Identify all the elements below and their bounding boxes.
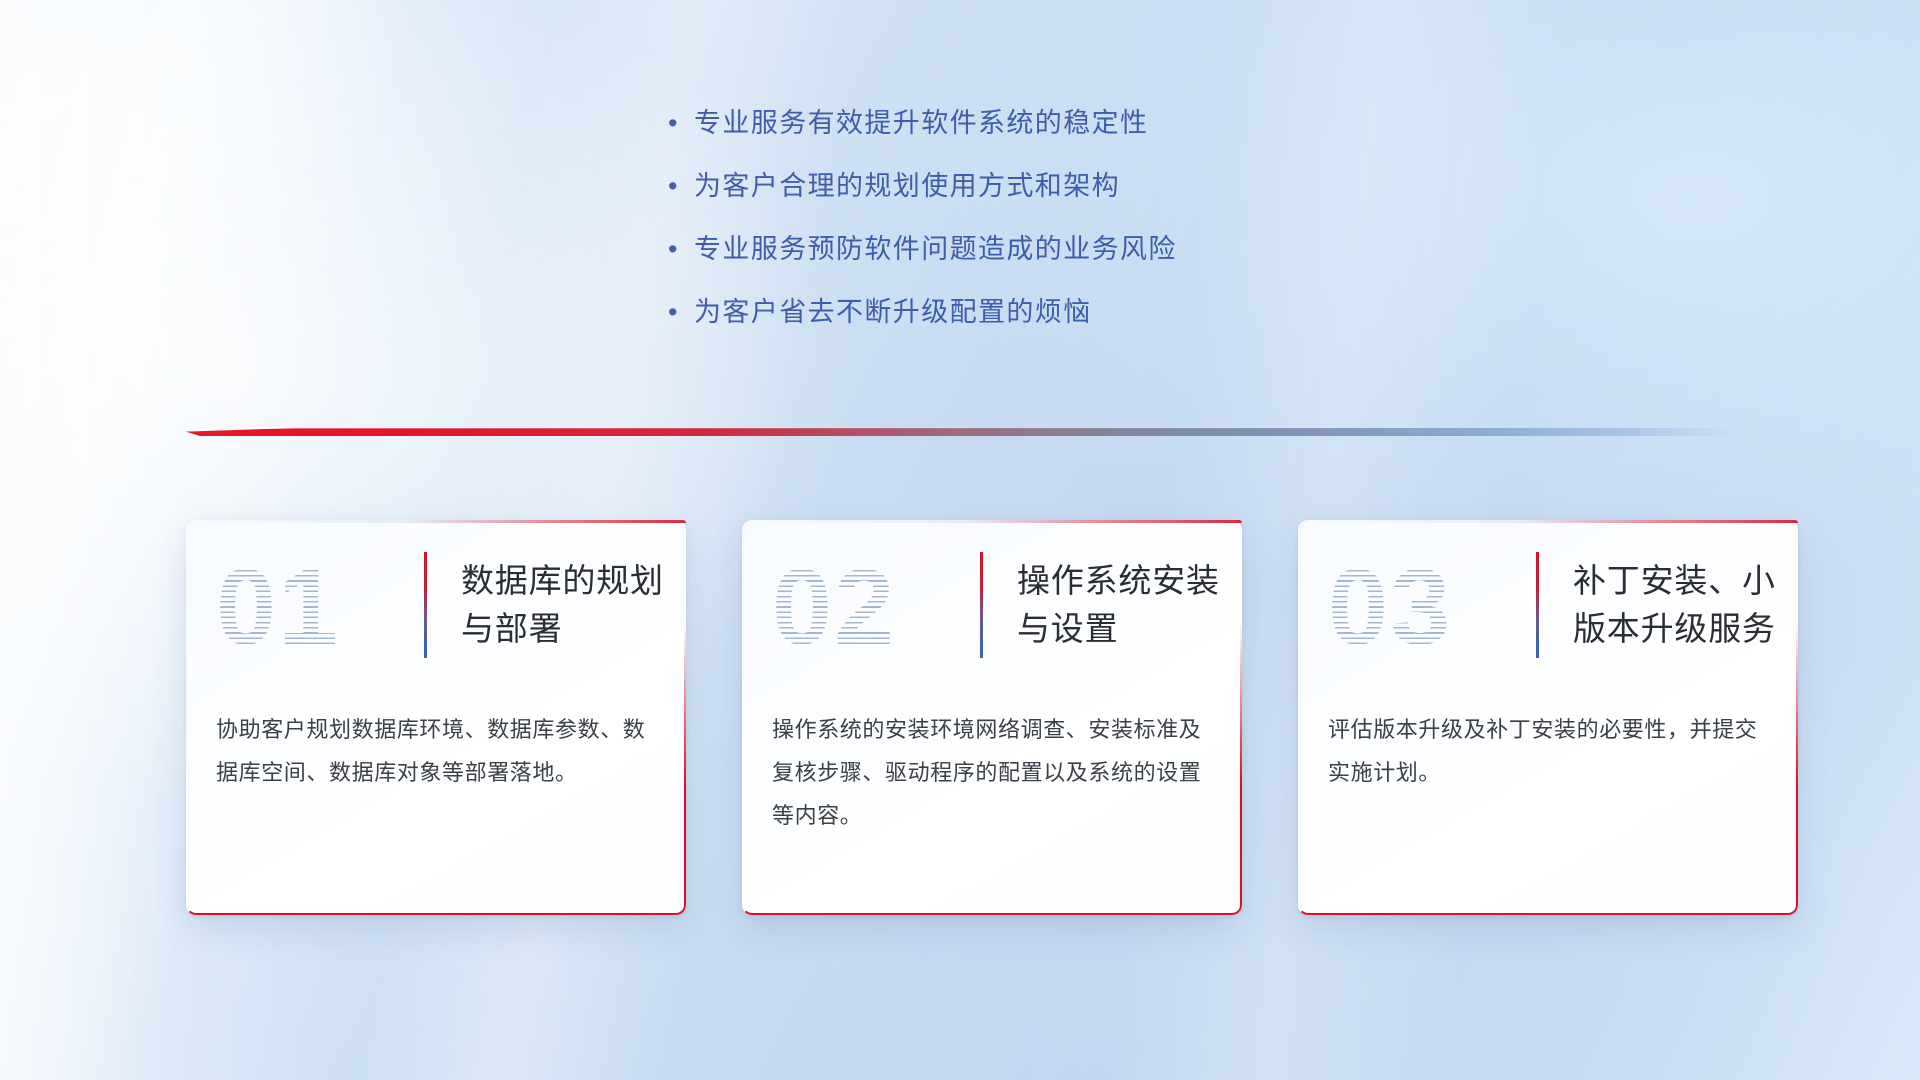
card-title: 操作系统安装与设置 xyxy=(1017,557,1232,653)
card-divider-bar xyxy=(980,552,983,658)
card-title: 补丁安装、小版本升级服务 xyxy=(1573,557,1788,653)
card-divider-bar xyxy=(1536,552,1539,658)
list-item: • 专业服务有效提升软件系统的稳定性 xyxy=(668,104,1448,143)
list-item: • 专业服务预防软件问题造成的业务风险 xyxy=(668,230,1448,269)
card-header: 01 数据库的规划与部署 xyxy=(186,520,686,690)
card-divider-bar xyxy=(424,552,427,658)
service-card-group: 01 数据库的规划与部署 协助客户规划数据库环境、数据库参数、数据库空间、数据库… xyxy=(186,520,1798,915)
benefits-bullet-list: • 专业服务有效提升软件系统的稳定性 • 为客户合理的规划使用方式和架构 • 专… xyxy=(668,104,1448,356)
bullet-dot-icon: • xyxy=(668,293,694,332)
divider-highlight xyxy=(232,427,1687,429)
card-number-watermark: 01 xyxy=(216,549,424,661)
card-number-watermark: 03 xyxy=(1328,549,1536,661)
bullet-text: 为客户省去不断升级配置的烦恼 xyxy=(694,293,1092,332)
card-header: 02 操作系统安装与设置 xyxy=(742,520,1242,690)
section-divider xyxy=(186,424,1734,440)
bullet-text: 为客户合理的规划使用方式和架构 xyxy=(694,167,1120,206)
card-number-watermark: 02 xyxy=(772,549,980,661)
card-description: 操作系统的安装环境网络调查、安装标准及复核步骤、驱动程序的配置以及系统的设置等内… xyxy=(742,690,1242,837)
list-item: • 为客户省去不断升级配置的烦恼 xyxy=(668,293,1448,332)
bullet-dot-icon: • xyxy=(668,167,694,206)
bullet-dot-icon: • xyxy=(668,104,694,143)
card-description: 协助客户规划数据库环境、数据库参数、数据库空间、数据库对象等部署落地。 xyxy=(186,690,686,794)
bullet-text: 专业服务有效提升软件系统的稳定性 xyxy=(694,104,1148,143)
service-card-01[interactable]: 01 数据库的规划与部署 协助客户规划数据库环境、数据库参数、数据库空间、数据库… xyxy=(186,520,686,915)
service-card-03[interactable]: 03 补丁安装、小版本升级服务 评估版本升级及补丁安装的必要性，并提交实施计划。 xyxy=(1298,520,1798,915)
card-header: 03 补丁安装、小版本升级服务 xyxy=(1298,520,1798,690)
bullet-text: 专业服务预防软件问题造成的业务风险 xyxy=(694,230,1177,269)
list-item: • 为客户合理的规划使用方式和架构 xyxy=(668,167,1448,206)
card-description: 评估版本升级及补丁安装的必要性，并提交实施计划。 xyxy=(1298,690,1798,794)
slide-canvas: • 专业服务有效提升软件系统的稳定性 • 为客户合理的规划使用方式和架构 • 专… xyxy=(0,0,1920,1080)
card-title: 数据库的规划与部署 xyxy=(461,557,676,653)
divider-gradient-bar xyxy=(186,428,1734,436)
bullet-dot-icon: • xyxy=(668,230,694,269)
service-card-02[interactable]: 02 操作系统安装与设置 操作系统的安装环境网络调查、安装标准及复核步骤、驱动程… xyxy=(742,520,1242,915)
